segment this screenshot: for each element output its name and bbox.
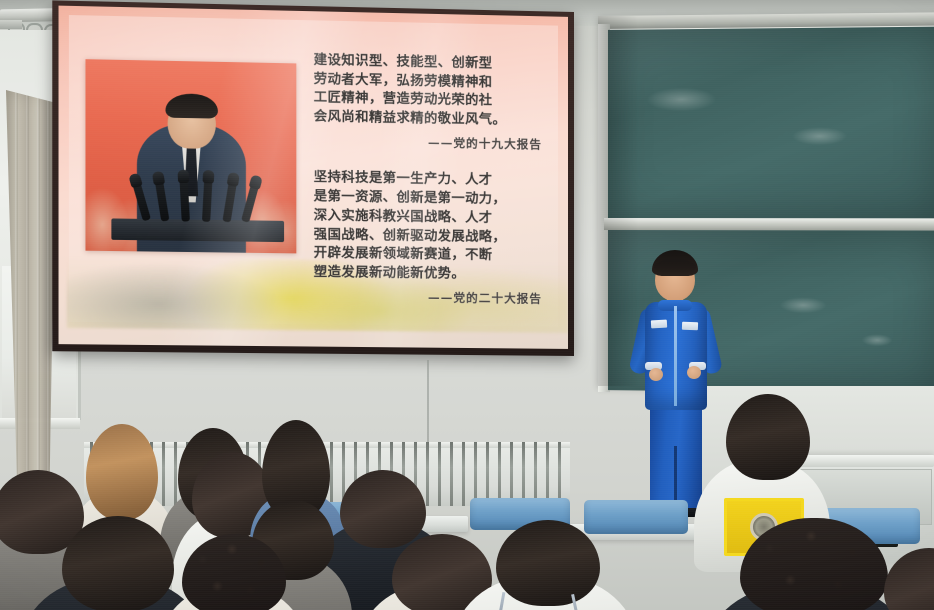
projection-screen: 建设知识型、技能型、创新型 劳动者大军，弘扬劳模精神和 工匠精神，营造劳动光荣的… — [52, 0, 574, 356]
slide-attribution-2: ——党的二十大报告 — [314, 288, 542, 307]
chalk-tray — [604, 218, 934, 231]
slide-p2-line: 塑造发展新动能新优势。 — [314, 264, 554, 286]
presenter-hand-right — [687, 366, 701, 379]
presenter-zipper — [674, 306, 677, 406]
slide-paragraph-2: 坚持科技是第一生产力、人才 是第一资源、创新是第一动力， 深入实施科教兴国战略、… — [314, 169, 554, 285]
presenter-chest-patch-right — [682, 322, 698, 331]
classroom-chair[interactable] — [584, 500, 688, 534]
student-head — [496, 520, 600, 606]
presenter — [625, 250, 725, 516]
student-head — [340, 470, 426, 548]
photo-podium — [111, 219, 284, 242]
slide-text-block: 建设知识型、技能型、创新型 劳动者大军，弘扬劳模精神和 工匠精神，营造劳动光荣的… — [314, 52, 554, 307]
student-head — [86, 424, 158, 520]
slide-attribution-1: ——党的十九大报告 — [314, 132, 542, 152]
projected-slide: 建设知识型、技能型、创新型 劳动者大军，弘扬劳模精神和 工匠精神，营造劳动光荣的… — [59, 6, 568, 349]
presenter-hand-left — [649, 368, 663, 381]
presenter-hair — [652, 250, 698, 276]
slide-paragraph-1: 建设知识型、技能型、创新型 劳动者大军，弘扬劳模精神和 工匠精神，营造劳动光荣的… — [314, 52, 554, 132]
student-head — [726, 394, 810, 480]
presenter-chest-patch-left — [651, 320, 667, 329]
speaker-at-podium-photo — [85, 59, 296, 253]
chalkboard-panel-upper — [608, 27, 934, 221]
slide-p1-line: 会风尚和精益求精的敬业风气。 — [314, 108, 554, 131]
classroom-scene: 建设知识型、技能型、创新型 劳动者大军，弘扬劳模精神和 工匠精神，营造劳动光荣的… — [0, 0, 934, 610]
curtain-rail-bracket — [0, 20, 22, 29]
